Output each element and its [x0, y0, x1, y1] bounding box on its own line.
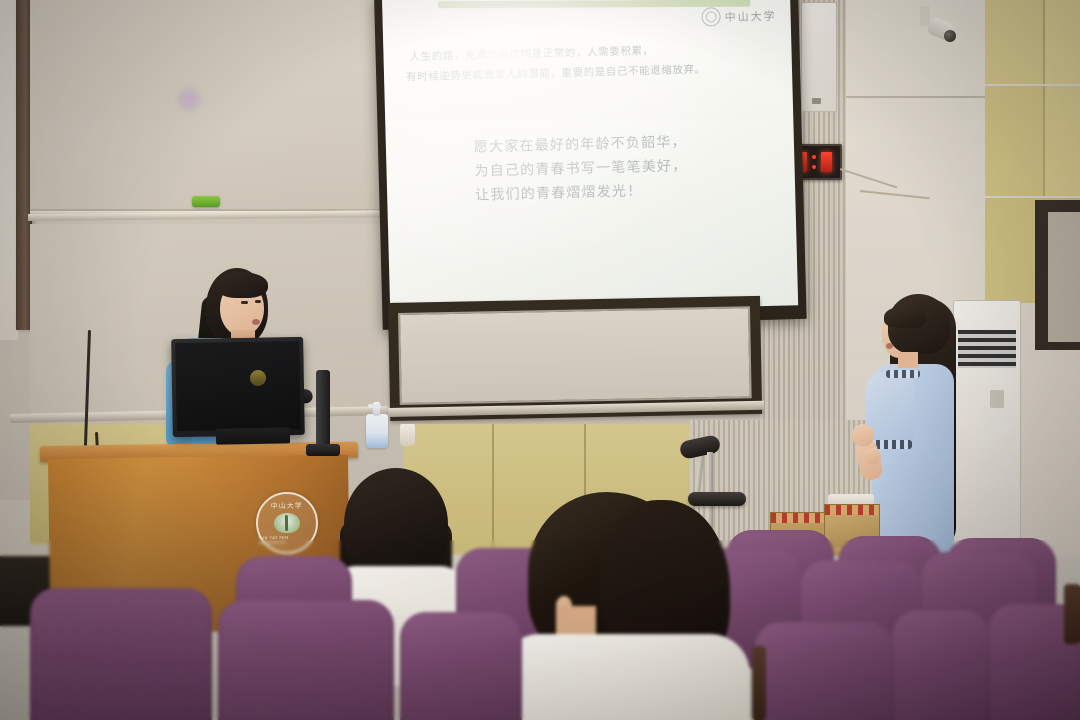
presenter-eye	[255, 300, 261, 303]
wall-speaker-icon	[801, 2, 837, 112]
acoustic-panel	[1045, 86, 1080, 196]
presenter-fringe	[216, 272, 268, 298]
air-conditioner-vent	[958, 330, 1016, 368]
auditorium-seat	[754, 622, 894, 720]
whiteboard-eraser-icon	[192, 196, 220, 207]
seat-armrest	[1064, 584, 1080, 644]
audience-left-head	[344, 468, 448, 580]
acoustic-panel	[985, 86, 1045, 196]
air-conditioner-control[interactable]	[990, 390, 1004, 408]
microphone-base	[306, 444, 340, 456]
presenter-mouth	[252, 319, 260, 325]
wall-recess-inner	[1048, 212, 1080, 342]
lower-whiteboard	[398, 306, 752, 405]
acoustic-panel	[985, 0, 1045, 84]
wall-speaker-indicator	[812, 98, 821, 104]
slide-university-logo: 中山大学	[701, 6, 776, 27]
speaker-neck	[898, 352, 918, 368]
crest-chinese-text: 中山大学	[271, 501, 303, 511]
microphone-icon	[316, 370, 330, 450]
speaker-hand	[864, 448, 881, 465]
presentation-slide: 中山大学 人生的路，充满崎岖坎坷是正常的，人需要积累， 有时候逆势更能激发人的潜…	[382, 0, 798, 316]
slide-paragraph-1: 人生的路，充满崎岖坎坷是正常的，人需要积累， 有时候逆势更能激发人的潜能，重要的…	[409, 38, 770, 88]
speaker-eye	[888, 327, 895, 330]
paper-cup	[400, 424, 415, 446]
slide-p1-line2: 有时候逆势更能激发人的潜能，重要的是自己不能退缩放弃。	[406, 58, 770, 88]
speaker-mouth	[886, 343, 893, 349]
stool-seat	[688, 492, 746, 506]
auditorium-seat	[30, 588, 212, 720]
lecture-hall-photo: 中山大学 人生的路，充满崎岖坎坷是正常的，人需要积累， 有时候逆势更能激发人的潜…	[0, 0, 1080, 720]
audience-center-person	[500, 634, 750, 720]
university-seal-icon	[701, 7, 720, 26]
hand-sanitizer-icon	[366, 414, 388, 448]
monitor-base	[216, 427, 290, 444]
seat-armrest	[752, 646, 766, 720]
slide-p1-line1: 人生的路，充满崎岖坎坷是正常的，人需要积累，	[409, 45, 653, 63]
crest-english-text: SUN YAT-SEN UNIVERSITY	[258, 535, 316, 546]
sanitizer-nozzle	[368, 404, 381, 408]
speaker-fringe	[884, 306, 926, 328]
whiteboard-upper	[30, 0, 382, 212]
speaker-collar-trim	[886, 370, 920, 378]
security-camera-lens	[944, 30, 956, 42]
acoustic-panel	[1045, 0, 1080, 84]
slide-paragraph-2: 愿大家在最好的年龄不负韶华， 为自己的青春书写一笔笔美好， 让我们的青春熠熠发光…	[474, 128, 776, 208]
auditorium-seat	[400, 612, 522, 720]
monitor-arm-joint	[250, 370, 266, 386]
auditorium-seat	[892, 610, 990, 720]
crest-leaf-icon	[274, 513, 300, 533]
auditorium-seat	[218, 600, 394, 720]
speaker-hand	[852, 424, 874, 446]
slide-logo-text: 中山大学	[724, 7, 776, 24]
presenter-eye	[241, 301, 248, 304]
monitor-screen	[175, 341, 301, 431]
